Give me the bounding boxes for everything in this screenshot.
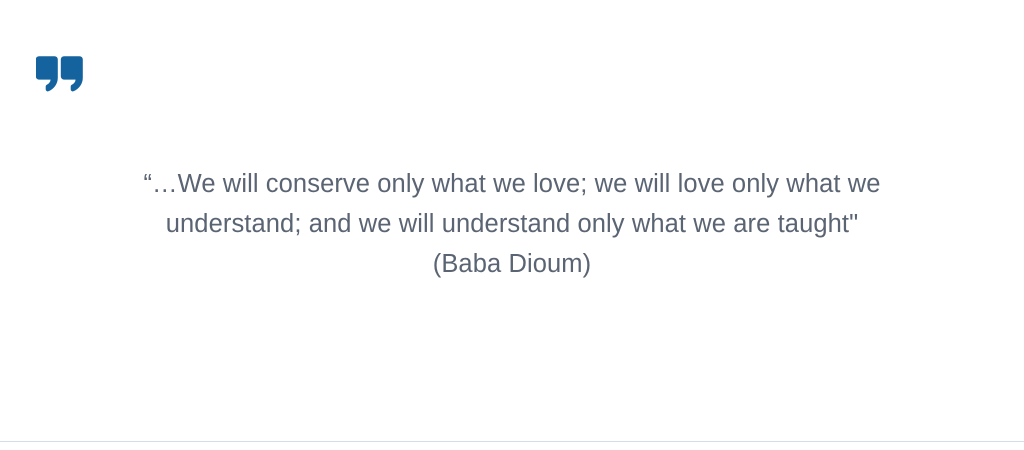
quote-slide: “…We will conserve only what we love; we… [0, 0, 1024, 450]
quote-text: “…We will conserve only what we love; we… [140, 164, 885, 244]
quote-block: “…We will conserve only what we love; we… [0, 164, 1024, 284]
double-quote-icon [36, 53, 86, 95]
quote-attribution: (Baba Dioum) [64, 244, 960, 284]
bottom-divider [0, 441, 1024, 442]
